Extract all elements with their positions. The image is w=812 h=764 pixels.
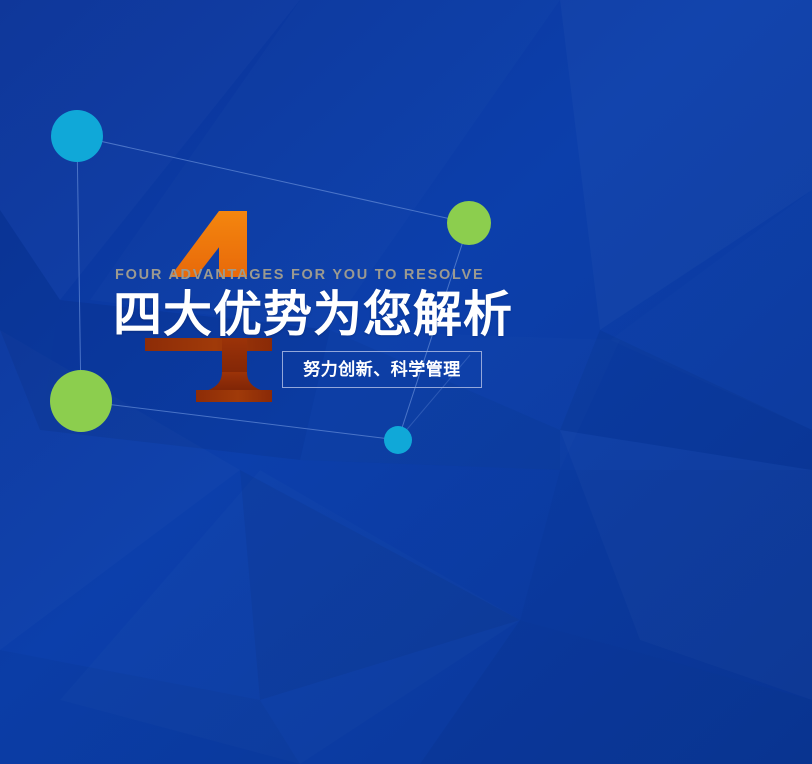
banner-headline: 四大优势为您解析 <box>113 291 713 341</box>
tagline-button[interactable]: 努力创新、科学管理 <box>282 351 482 388</box>
banner-content: FOUR ADVANTAGES FOR YOU TO RESOLVE 四大优势为… <box>113 268 713 340</box>
tagline-row: 努力创新、科学管理 <box>282 351 482 388</box>
banner-eyebrow: FOUR ADVANTAGES FOR YOU TO RESOLVE <box>115 268 713 283</box>
gong-pedestal-icon <box>145 338 272 402</box>
promo-banner: FOUR ADVANTAGES FOR YOU TO RESOLVE 四大优势为… <box>0 0 812 764</box>
